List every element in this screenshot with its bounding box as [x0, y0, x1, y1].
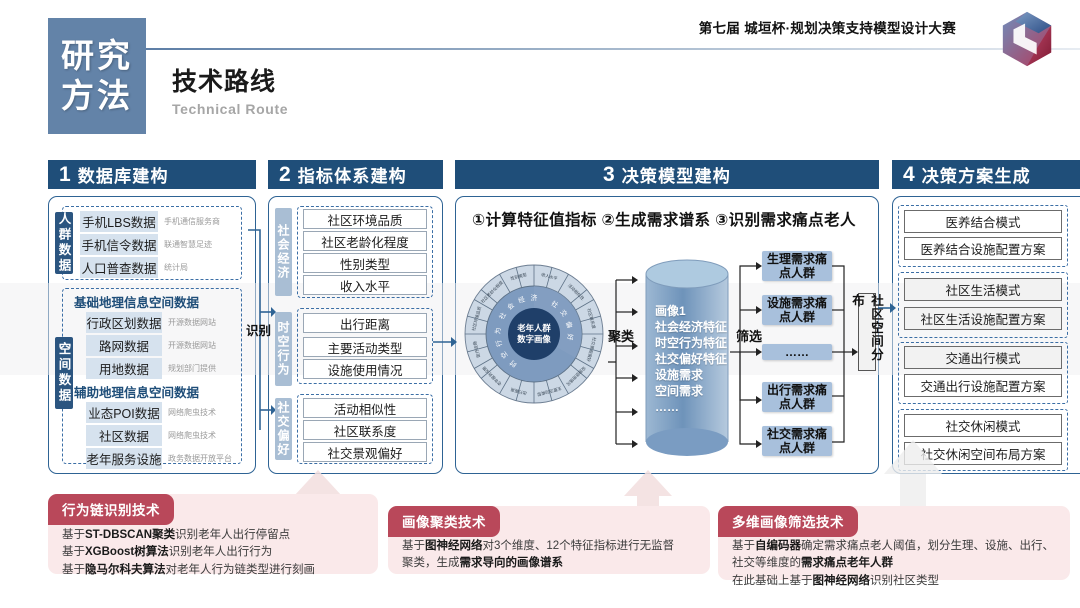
indicator-item: 性别类型 [303, 253, 427, 273]
pain-point-group-box: 生理需求痛 点人群 [762, 251, 832, 281]
subgroup-title-aux-geo: 辅助地理信息空间数据 [74, 382, 199, 401]
data-row: 路网数据 开源数据网站 [86, 335, 216, 356]
indicator-item: 社交景观偏好 [303, 442, 427, 462]
data-row: 老年服务设施 政务数据开放平台 [86, 448, 232, 469]
data-row-source: 联通智慧足迹 [164, 239, 212, 250]
indicator-item: 社区环境品质 [303, 209, 427, 229]
indicator-item: 出行距离 [303, 313, 427, 333]
data-row: 手机LBS数据 手机通信服务商 [80, 211, 220, 232]
wheel-center-line1: 老年人群 [516, 323, 551, 333]
plan-scheme: 医养结合设施配置方案 [904, 237, 1062, 260]
page-header: 研究 方法 技术路线 Technical Route 第七届 城垣杯·规划决策支… [0, 0, 1080, 152]
page-title: 技术路线 [172, 62, 276, 98]
filter-label: 筛选 [736, 326, 762, 345]
tech-card-body: 基于ST-DBSCAN聚类识别老年人出行停留点 基于XGBoost树算法识别老年… [62, 527, 372, 579]
header-divider [146, 48, 1080, 50]
tech-card-body: 基于图神经网络对3个维度、12个特征指标进行无监督 聚类，生成需求导向的画像谱系 [402, 538, 702, 573]
data-row: 人口普查数据 统计局 [80, 257, 188, 278]
box-line-1: 出行需求痛 [767, 383, 827, 397]
tab-space-data: 空间数据 [55, 337, 73, 409]
data-row: 行政区划数据 开源数据网站 [86, 312, 216, 333]
data-row-source: 开源数据网站 [168, 340, 216, 351]
tech-line: 基于隐马尔科夫算法对老年人行为链类型进行刻画 [62, 562, 372, 579]
data-row: 用地数据 规划部门提供 [86, 358, 216, 379]
tech-line-pre: 基于 [732, 540, 755, 552]
pain-point-group-box: 社交需求痛 点人群 [762, 426, 832, 456]
tech-line-pre: 在此基础上基于 [732, 575, 813, 587]
section-header-3: 3 决策模型建构 [455, 160, 879, 189]
badge-line-2: 方法 [61, 76, 133, 116]
tech-line-post: 确定需求痛点老人阈值，划分生理、设施、出行、 [801, 540, 1054, 552]
community-distribution-box: 社区空间分布 [858, 293, 876, 371]
wheel-ring-label: 济 [531, 293, 538, 302]
data-row-name: 业态POI数据 [86, 402, 162, 423]
tech-card-multidim-filter: 多维画像筛选技术 基于自编码器确定需求痛点老人阈值，划分生理、设施、出行、 社交… [718, 506, 1070, 580]
indicator-item: 社区老龄化程度 [303, 231, 427, 251]
section-header-1: 1 数据库建构 [48, 160, 256, 189]
tech-line-bold: 需求痛点老年人群 [801, 557, 893, 569]
plan-mode: 社交休闲模式 [904, 414, 1062, 437]
wheel-center-line2: 数字画像 [517, 334, 551, 344]
cylinder-line: 空间需求 [655, 384, 735, 400]
tech-line-post: 识别老年人出行停留点 [175, 529, 290, 541]
identify-label: 识别 [246, 320, 271, 339]
pain-point-group-box: 设施需求痛 点人群 [762, 295, 832, 325]
tech-line-bold: ST-DBSCAN聚类 [85, 529, 175, 541]
tech-line: 在此基础上基于图神经网络识别社区类型 [732, 573, 1064, 590]
connector-to-model [433, 330, 461, 354]
box-line-1: 社交需求痛 [767, 427, 827, 441]
tech-line-pre: 社交等维度的 [732, 557, 801, 569]
page-subtitle: Technical Route [172, 101, 288, 117]
tech-line-pre: 聚类，生成 [402, 557, 460, 569]
data-row-source: 手机通信服务商 [164, 216, 220, 227]
section-number: 3 [603, 164, 615, 185]
indicator-item: 收入水平 [303, 275, 427, 295]
tab-social-preference: 社交偏好 [275, 398, 292, 460]
data-row-name: 手机信令数据 [80, 234, 158, 255]
tech-line-bold: XGBoost树算法 [85, 546, 169, 558]
box-line-2: 点人群 [779, 266, 815, 280]
tech-line-post: 对老年人行为链类型进行刻画 [166, 564, 316, 576]
section-number: 2 [279, 164, 291, 185]
pain-point-group-box: 出行需求痛 点人群 [762, 382, 832, 412]
plan-mode: 医养结合模式 [904, 210, 1062, 233]
data-row-source: 政务数据开放平台 [168, 453, 232, 464]
data-row-name: 行政区划数据 [86, 312, 162, 333]
data-row-source: 网络爬虫技术 [168, 430, 216, 441]
tech-line-pre: 基于 [402, 540, 425, 552]
cylinder-title: 画像1 [655, 304, 735, 320]
indicator-item: 主要活动类型 [303, 337, 427, 357]
box-line-2: 点人群 [779, 397, 815, 411]
section-title: 数据库建构 [78, 162, 169, 187]
data-row-name: 老年服务设施 [86, 448, 162, 469]
data-row-name: 路网数据 [86, 335, 162, 356]
data-row-source: 规划部门提供 [168, 363, 216, 374]
connector-to-plan [878, 296, 898, 320]
section-header-2: 2 指标体系建构 [268, 160, 443, 189]
tab-people-data: 人群数据 [55, 212, 73, 274]
box-line-2: 点人群 [779, 310, 815, 324]
tech-line: 基于ST-DBSCAN聚类识别老年人出行停留点 [62, 527, 372, 544]
data-row-name: 手机LBS数据 [80, 211, 158, 232]
section-number: 4 [903, 164, 915, 185]
plan-scheme: 社区生活设施配置方案 [904, 307, 1062, 330]
cylinder-line: 社交偏好特征 [655, 352, 735, 368]
data-row: 业态POI数据 网络爬虫技术 [86, 402, 216, 423]
tech-line: 基于图神经网络对3个维度、12个特征指标进行无监督 [402, 538, 702, 555]
tech-line-bold: 图神经网络 [813, 575, 871, 587]
profile-wheel-diagram: 老年人群 数字画像 社 会 经 济 社 交 偏 好 时 空 行 为 收入水平 活… [462, 262, 606, 406]
section-header-4: 4 决策方案生成 [892, 160, 1080, 189]
tech-line-bold: 自编码器 [755, 540, 801, 552]
cylinder-content: 画像1 社会经济特征 时空行为特征 社交偏好特征 设施需求 空间需求 …… [655, 304, 735, 416]
data-row-name: 用地数据 [86, 358, 162, 379]
tech-card-caption: 画像聚类技术 [388, 506, 500, 537]
plan-scheme: 交通出行设施配置方案 [904, 374, 1062, 397]
tech-line-pre: 基于 [62, 529, 85, 541]
data-row-source: 统计局 [164, 262, 188, 273]
plan-mode: 社区生活模式 [904, 278, 1062, 301]
data-row-source: 网络爬虫技术 [168, 407, 216, 418]
cluster-fan-arrows [606, 262, 642, 462]
hexagon-logo [998, 10, 1056, 68]
data-row: 手机信令数据 联通智慧足迹 [80, 234, 212, 255]
tech-line-bold: 图神经网络 [425, 540, 483, 552]
cylinder-line: 时空行为特征 [655, 336, 735, 352]
research-method-badge: 研究 方法 [48, 18, 146, 134]
tech-line-bold: 隐马尔科夫算法 [85, 564, 166, 576]
section-title: 决策模型建构 [622, 162, 731, 187]
tech-line-post: 识别老年人出行行为 [169, 546, 273, 558]
tab-spatiotemporal-behavior: 时空行为 [275, 312, 292, 386]
data-row-name: 社区数据 [86, 425, 162, 446]
section-title: 决策方案生成 [922, 162, 1031, 187]
tab-social-economy: 社会经济 [275, 208, 292, 296]
data-row-name: 人口普查数据 [80, 257, 158, 278]
tech-line-post: 对3个维度、12个特征指标进行无监督 [483, 540, 675, 552]
tech-line-post: 识别社区类型 [870, 575, 939, 587]
tech-line: 基于自编码器确定需求痛点老人阈值，划分生理、设施、出行、 [732, 538, 1064, 555]
tech-line-pre: 基于 [62, 564, 85, 576]
section-title: 指标体系建构 [298, 162, 407, 187]
tech-card-caption: 行为链识别技术 [48, 494, 174, 525]
indicator-item: 活动相似性 [303, 398, 427, 418]
tech-card-caption: 多维画像筛选技术 [718, 506, 858, 537]
box-line-1: …… [785, 345, 809, 359]
section-number: 1 [59, 164, 71, 185]
pain-point-group-box-ellipsis: …… [762, 344, 832, 360]
cylinder-line: …… [655, 400, 735, 416]
tech-line: 基于XGBoost树算法识别老年人出行行为 [62, 544, 372, 561]
tech-card-body: 基于自编码器确定需求痛点老人阈值，划分生理、设施、出行、 社交等维度的需求痛点老… [732, 538, 1064, 590]
subgroup-title-base-geo: 基础地理信息空间数据 [74, 292, 199, 311]
indicator-item: 设施使用情况 [303, 359, 427, 379]
tech-card-behavior-chain: 行为链识别技术 基于ST-DBSCAN聚类识别老年人出行停留点 基于XGBoos… [48, 494, 378, 574]
tech-line: 聚类，生成需求导向的画像谱系 [402, 555, 702, 572]
contest-title: 第七届 城垣杯·规划决策支持模型设计大赛 [699, 17, 956, 37]
tech-card-profile-clustering: 画像聚类技术 基于图神经网络对3个维度、12个特征指标进行无监督 聚类，生成需求… [388, 506, 710, 574]
cylinder-line: 设施需求 [655, 368, 735, 384]
cylinder-line: 社会经济特征 [655, 320, 735, 336]
model-steps: ①计算特征值指标 ②生成需求谱系 ③识别需求痛点老人 [472, 208, 856, 230]
tech-line-bold: 需求导向的画像谱系 [460, 557, 564, 569]
indicator-item: 社区联系度 [303, 420, 427, 440]
box-line-1: 生理需求痛 [767, 252, 827, 266]
plan-mode: 交通出行模式 [904, 346, 1062, 369]
tech-line: 社交等维度的需求痛点老年人群 [732, 555, 1064, 572]
tech-line-pre: 基于 [62, 546, 85, 558]
box-line-2: 点人群 [779, 441, 815, 455]
data-row: 社区数据 网络爬虫技术 [86, 425, 216, 446]
data-row-source: 开源数据网站 [168, 317, 216, 328]
box-line-1: 设施需求痛 [767, 296, 827, 310]
badge-line-1: 研究 [61, 36, 133, 76]
